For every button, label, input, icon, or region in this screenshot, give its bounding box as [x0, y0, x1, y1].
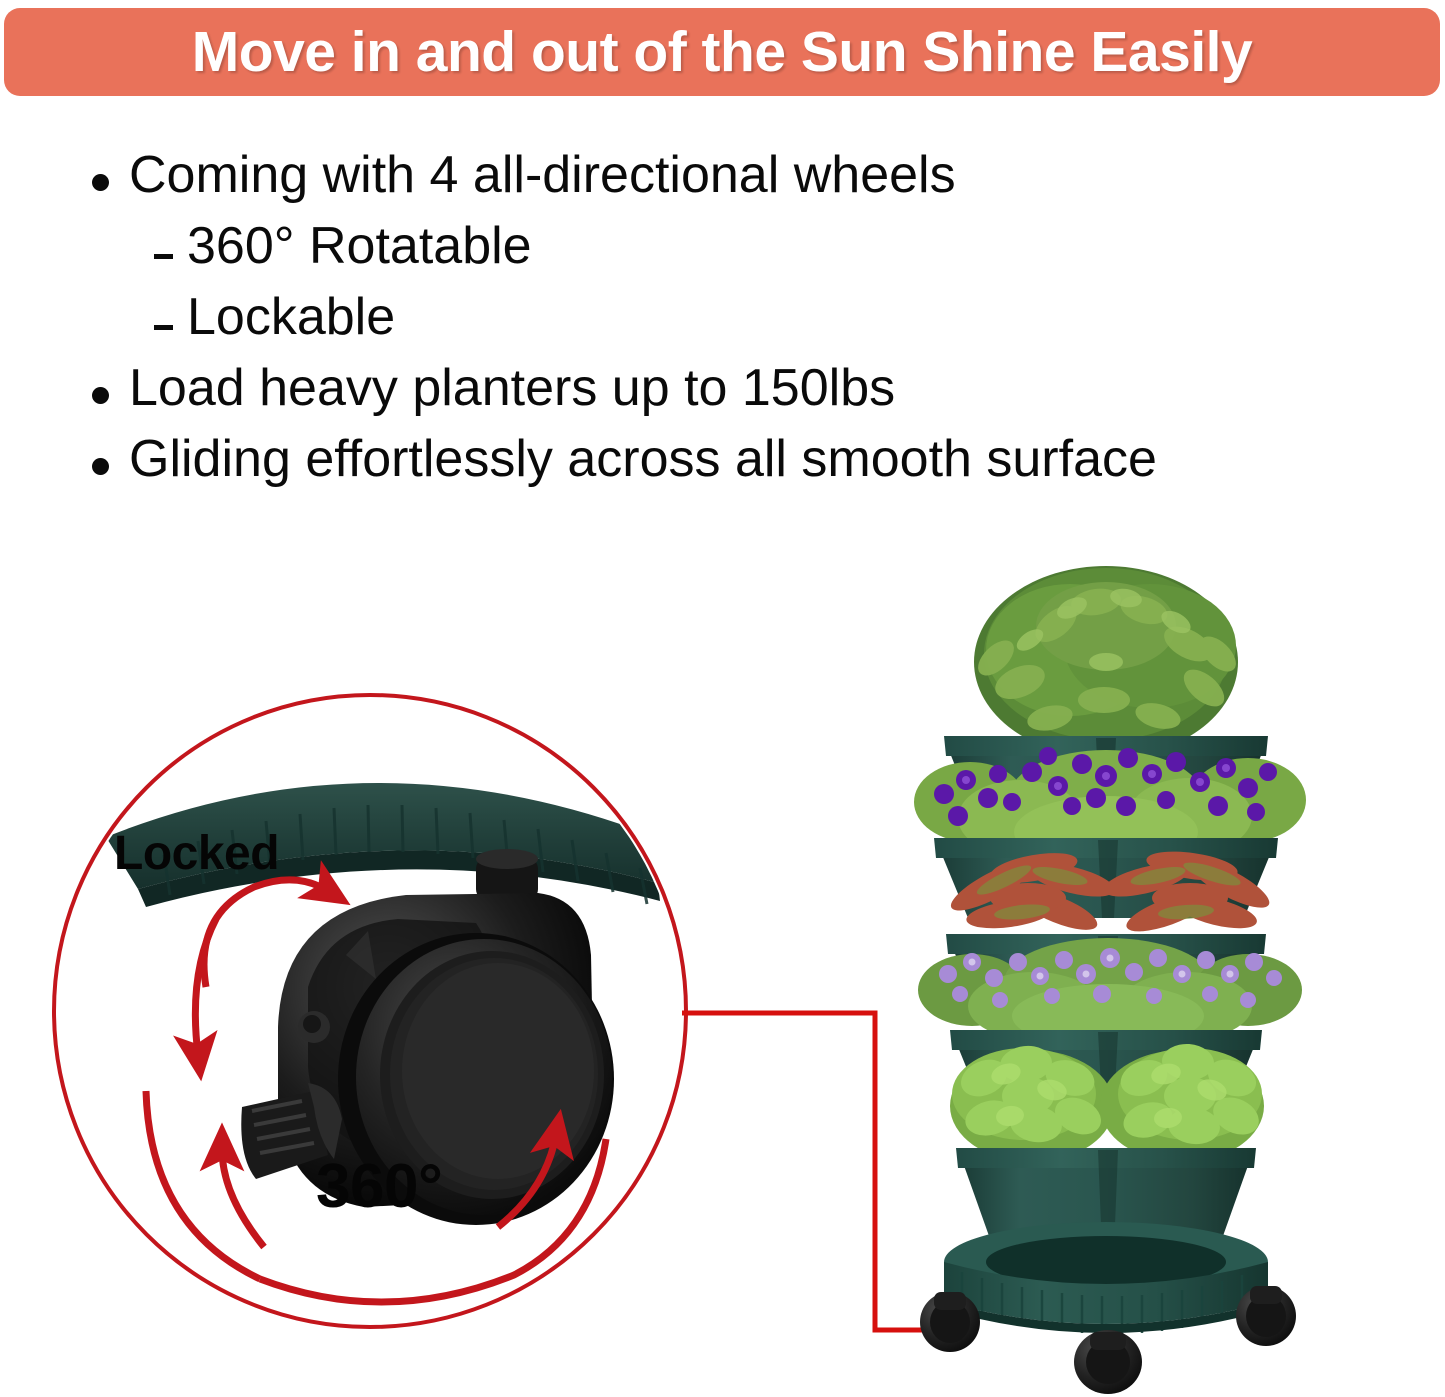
bullet-dot-icon: [92, 458, 109, 475]
herb-foliage: [972, 566, 1242, 758]
feature-item: Coming with 4 all-directional wheels: [92, 148, 1432, 203]
planter-illustration: [900, 550, 1440, 1395]
bullet-dash-icon: [154, 325, 173, 330]
locked-label: Locked: [114, 826, 279, 881]
feature-text: Coming with 4 all-directional wheels: [129, 148, 956, 203]
planter-tower: [900, 550, 1440, 1395]
caddy-caster-left: [920, 1292, 980, 1352]
feature-text: Lockable: [187, 290, 395, 345]
feature-item: Load heavy planters up to 150lbs: [92, 361, 1432, 416]
feature-item: Gliding effortlessly across all smooth s…: [92, 432, 1432, 487]
bullet-dash-icon: [154, 254, 173, 259]
header-banner: Move in and out of the Sun Shine Easily: [4, 8, 1440, 96]
caddy-caster-right: [1236, 1286, 1296, 1346]
feature-item: 360° Rotatable: [92, 219, 1432, 274]
caster-detail-callout: Locked 360°: [52, 693, 688, 1329]
feature-list: Coming with 4 all-directional wheels 360…: [92, 148, 1432, 504]
page-title: Move in and out of the Sun Shine Easily: [192, 24, 1252, 81]
magnifier-circle: [52, 693, 688, 1329]
feature-text: 360° Rotatable: [187, 219, 532, 274]
caddy-caster-center: [1074, 1330, 1142, 1394]
bullet-dot-icon: [92, 387, 109, 404]
rotation-label: 360°: [316, 1151, 442, 1222]
caddy-base: [944, 1222, 1268, 1334]
feature-text: Gliding effortlessly across all smooth s…: [129, 432, 1157, 487]
bullet-dot-icon: [92, 174, 109, 191]
feature-text: Load heavy planters up to 150lbs: [129, 361, 895, 416]
feature-item: Lockable: [92, 290, 1432, 345]
